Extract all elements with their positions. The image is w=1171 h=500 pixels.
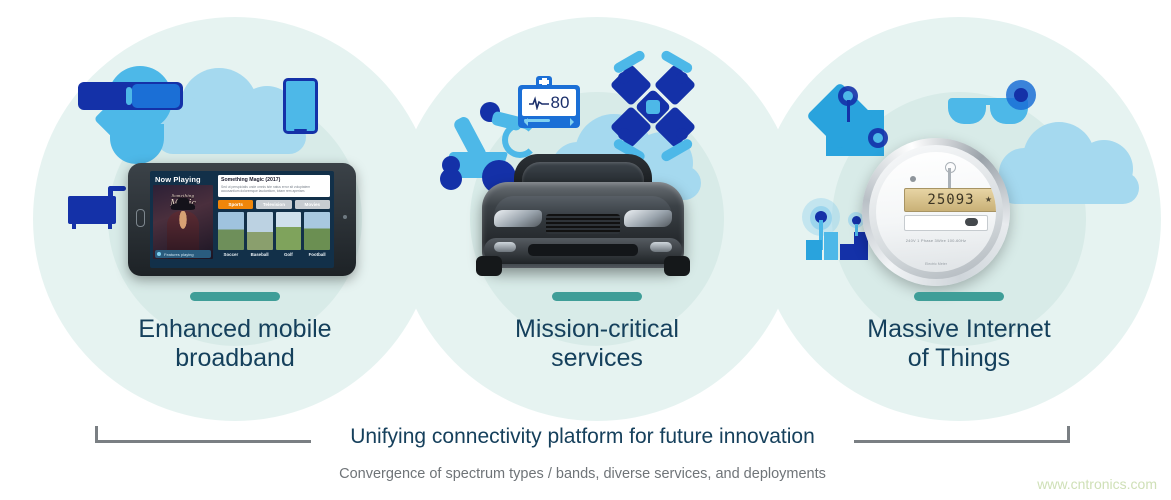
head-profile-icon [98,66,176,164]
panel-caption-3: Massive Internet of Things [809,292,1109,373]
movie-info-title: Something Magic (2017) [221,177,327,183]
play-dot-icon [157,252,161,256]
panel-caption-1: Enhanced mobile broadband [85,292,385,373]
movie-info-box: Something Magic (2017) Sed ut perspiciat… [218,175,330,197]
thumbnail-image-football [304,212,330,250]
thumbnail-caption: Soccer [218,252,244,257]
meter-unit: ★ [985,195,992,204]
now-playing-label: Now Playing [155,175,215,184]
heart-rate-value: 80 [551,93,570,113]
content-panel: Something Magic (2017) Sed ut perspiciat… [218,175,330,265]
thumbnail-caption: Golf [276,252,302,257]
thumbnail-item[interactable]: Soccer [218,212,244,257]
thumbnail-caption: Baseball [247,252,273,257]
health-monitor-icon: 80 [518,76,580,128]
meter-button[interactable] [965,218,978,226]
thumbnail-image-baseball [247,212,273,250]
thumbnail-item[interactable]: Baseball [247,212,273,257]
tab-sports[interactable]: Sports [218,200,253,209]
tab-television[interactable]: Television [256,200,291,209]
smart-meter-device: 25093 ★ 240V 1 Phase 3Wire 100-60Hz Elec… [862,138,1010,286]
meter-spec-label: 240V 1 Phase 3Wire 100-60Hz [876,238,996,243]
meter-indicator-dot [910,176,916,182]
panel-title-3-line1: Massive Internet [809,315,1109,344]
slide-canvas: Now Playing Something Magic Features pla… [0,0,1171,500]
category-tabs: Sports Television Movies [218,200,330,209]
panel-title-2-line1: Mission-critical [447,315,747,344]
now-playing-badge[interactable]: Features playing [155,250,211,258]
thumbnail-grid: Soccer Baseball Golf Football [218,212,330,257]
phone-home-button [136,209,145,227]
footer-bracket: Unifying connectivity platform for futur… [95,440,1070,442]
movie-poster: Something Magic Features playing [153,185,213,259]
vr-headset-icon [78,82,183,110]
footer-subline: Convergence of spectrum types / bands, d… [95,466,1070,482]
phone-screen: Now Playing Something Magic Features pla… [150,171,334,268]
thumbnail-image-golf [276,212,302,250]
caption-underline-bar [190,292,280,301]
panel-title-1-line1: Enhanced mobile [85,315,385,344]
now-playing-panel: Now Playing Something Magic Features pla… [153,174,215,265]
thumbnail-caption: Football [304,252,330,257]
phone-camera-icon [343,215,347,219]
car-icon [472,152,694,280]
watermark: www.cntronics.com [1037,476,1157,492]
ecg-waveform-icon [529,96,549,110]
thumbnail-item[interactable]: Football [304,212,330,257]
thumbnail-item[interactable]: Golf [276,212,302,257]
panel-title-1-line2: broadband [85,344,385,373]
thumbnail-image-soccer [218,212,244,250]
footer-headline: Unifying connectivity platform for futur… [95,425,1070,449]
panel-caption-2: Mission-critical services [447,292,747,373]
projector-icon [68,186,130,228]
meter-brand-label: Electric Meter [876,262,996,266]
caption-underline-bar [552,292,642,301]
movie-info-body: Sed ut perspiciatis unde omnis iste natu… [221,185,327,193]
caption-underline-bar [914,292,1004,301]
tab-movies[interactable]: Movies [295,200,330,209]
poster-hat [171,203,195,210]
meter-lcd-display: 25093 ★ [904,188,996,212]
tablet-icon [283,78,318,134]
meter-antenna-icon [948,168,951,190]
panel-title-2-line2: services [447,344,747,373]
meter-reading: 25093 [927,192,974,208]
panel-title-3-line2: of Things [809,344,1109,373]
smartphone-device: Now Playing Something Magic Features pla… [128,163,356,276]
drone-icon [612,66,694,146]
smart-glasses-icon [944,80,1040,136]
